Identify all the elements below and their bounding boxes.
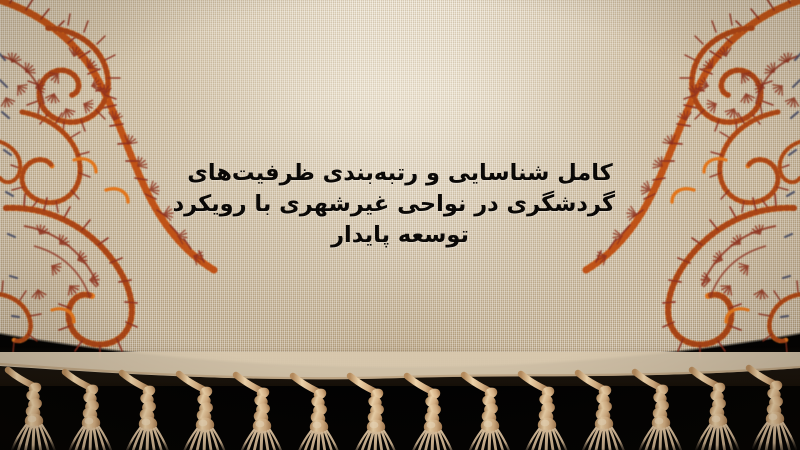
title-line-3: توسعه پایدار	[185, 220, 615, 251]
slide-title: کامل شناسایی و رتبه‌بندی ظرفیت‌های گردشگ…	[185, 158, 615, 251]
title-line-1: کامل شناسایی و رتبه‌بندی ظرفیت‌های	[185, 158, 615, 189]
slide-canvas: کامل شناسایی و رتبه‌بندی ظرفیت‌های گردشگ…	[0, 0, 800, 450]
title-line-2: گردشگری در نواحی غیرشهری با رویکرد	[185, 189, 615, 220]
